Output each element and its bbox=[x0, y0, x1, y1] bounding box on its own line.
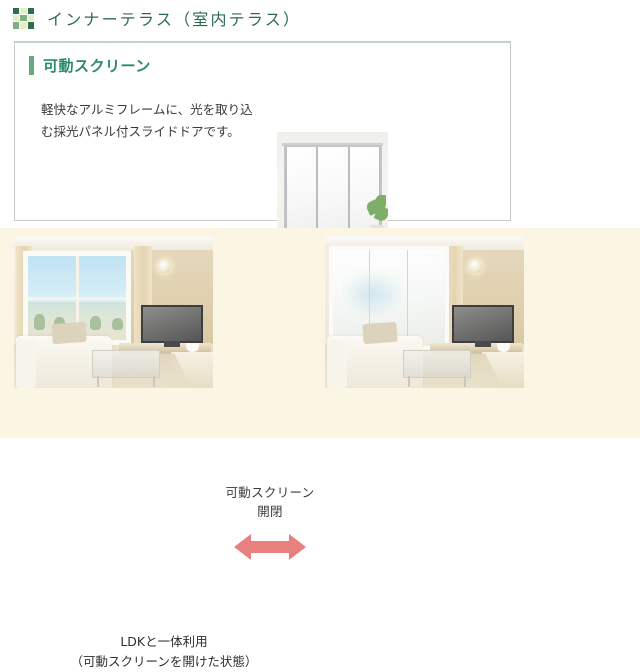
feature-card: 可動スクリーン 軽快なアルミフレームに、光を取り込む採光パネル付スライドドアです… bbox=[14, 41, 511, 221]
room-photo-screen-closed bbox=[325, 236, 524, 388]
comparison-item-closed: LDKと独立利用 （可動スクリーンを閉めた状態） bbox=[325, 236, 524, 388]
room-ceiling bbox=[14, 236, 213, 250]
center-label-line-2: 開閉 bbox=[215, 502, 325, 521]
room-photo-screen-open bbox=[14, 236, 213, 388]
television bbox=[452, 305, 514, 343]
card-heading-row: 可動スクリーン bbox=[29, 55, 151, 76]
grid-squares-icon bbox=[13, 8, 34, 29]
door-panel-1 bbox=[286, 147, 317, 233]
card-heading: 可動スクリーン bbox=[43, 55, 151, 76]
heading-accent-bar bbox=[29, 56, 34, 75]
door-panel-2 bbox=[317, 147, 348, 233]
page-title: インナーテラス（室内テラス） bbox=[47, 6, 301, 30]
comparison-item-open: LDKと一体利用 （可動スクリーンを開けた状態） bbox=[14, 236, 213, 388]
coffee-table bbox=[92, 350, 160, 378]
comparison-panel: LDKと一体利用 （可動スクリーンを開けた状態） bbox=[0, 228, 640, 438]
coffee-table bbox=[403, 350, 471, 378]
center-label: 可動スクリーン 開閉 bbox=[215, 483, 325, 522]
window-mullion-horizontal bbox=[28, 297, 126, 300]
caption-line-1: LDKと一体利用 bbox=[14, 632, 314, 652]
double-arrow-horizontal-icon bbox=[215, 531, 325, 563]
page-header: インナーテラス（室内テラス） bbox=[0, 0, 640, 36]
television bbox=[141, 305, 203, 343]
caption-line-2: （可動スクリーンを開けた状態） bbox=[14, 652, 314, 672]
caption-screen-open: LDKと一体利用 （可動スクリーンを開けた状態） bbox=[14, 632, 314, 672]
card-description: 軽快なアルミフレームに、光を取り込む採光パネル付スライドドアです。 bbox=[41, 99, 256, 143]
center-label-line-1: 可動スクリーン bbox=[215, 483, 325, 502]
